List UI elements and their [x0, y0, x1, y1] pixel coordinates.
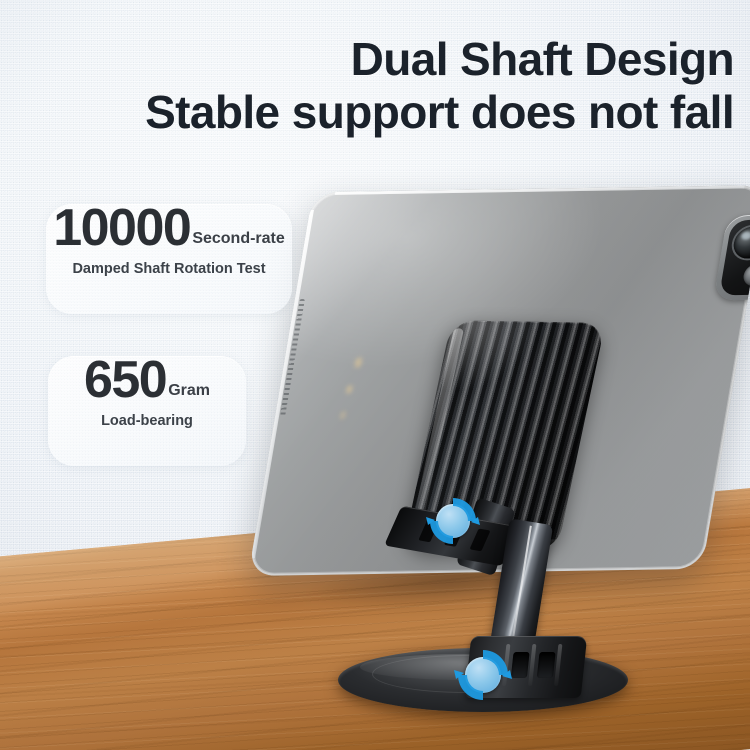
stat-caption: Damped Shaft Rotation Test — [46, 261, 292, 277]
rotation-marker-base — [452, 644, 514, 706]
rotation-marker-upper — [424, 492, 482, 550]
stat-card-content: 10000 Second-rate Damped Shaft Rotation … — [46, 204, 292, 277]
stat-value-row: 10000 Second-rate — [46, 204, 292, 253]
product-marketing-image: Dual Shaft Design Stable support does no… — [0, 0, 750, 750]
stat-value: 10000 — [53, 204, 190, 253]
rotation-arrows-icon — [424, 492, 482, 550]
stat-value: 650 — [84, 356, 166, 405]
stat-unit: Second-rate — [192, 230, 284, 253]
stat-caption: Load-bearing — [48, 413, 246, 429]
hinge-rib — [554, 644, 562, 686]
stat-card-load-bearing: 650 Gram Load-bearing — [48, 356, 246, 466]
stat-card-rotation-test: 10000 Second-rate Damped Shaft Rotation … — [46, 204, 292, 314]
stat-value-row: 650 Gram — [48, 356, 246, 405]
stat-card-content: 650 Gram Load-bearing — [48, 356, 246, 429]
rotation-arrows-icon — [452, 644, 514, 706]
hinge-slot — [537, 652, 556, 678]
hinge-rib — [528, 644, 536, 686]
stat-unit: Gram — [168, 382, 210, 405]
